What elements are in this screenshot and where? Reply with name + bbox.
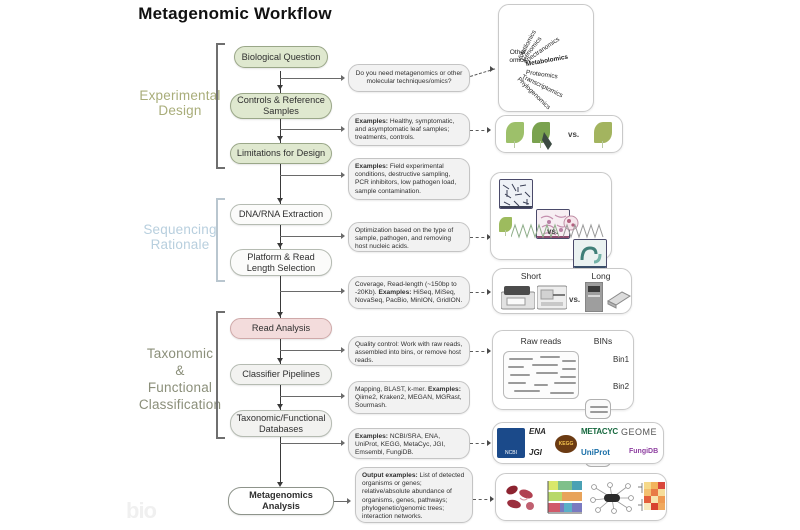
branch-line-extraction xyxy=(280,236,342,237)
logo-jgi: JGI xyxy=(529,448,542,457)
node-limitations-for-design[interactable]: Limitations for Design xyxy=(230,143,332,164)
panel-database-logos: NCBI ENA KEGG METACYC GEOME JGI UniProt … xyxy=(492,422,664,464)
branch-arrow-question xyxy=(341,75,345,81)
micrograph-tile-3 xyxy=(573,239,607,269)
branch-line-controls xyxy=(280,129,342,130)
branch-line-databases xyxy=(280,443,342,444)
branch-arrow-classifier xyxy=(341,393,345,399)
bin1-label: Bin1 xyxy=(613,355,629,364)
callout-controls-examples: Examples: Healthy, symptomatic, and asym… xyxy=(348,113,470,146)
panel-leaf-comparison: vs. xyxy=(495,115,623,153)
node-read-analysis[interactable]: Read Analysis xyxy=(230,318,332,339)
leaf-healthy-1 xyxy=(506,122,524,148)
bin1-box xyxy=(585,399,611,419)
node-platform-label-2: Length Selection xyxy=(247,263,315,274)
logo-ncbi: NCBI xyxy=(497,428,525,458)
bin2-label: Bin2 xyxy=(613,382,629,391)
callout-classifier-examples: Mapping, BLAST, k-mer. Examples: Qiime2,… xyxy=(348,381,470,414)
sequencer-short-icon-2 xyxy=(537,284,567,310)
branch-line-classifier xyxy=(280,396,342,397)
node-read-analysis-label: Read Analysis xyxy=(252,323,310,334)
raw-reads-box xyxy=(503,351,579,399)
node-controls-label-2: Samples xyxy=(263,106,299,117)
watermark-logo: bio xyxy=(126,498,186,526)
callout-output-examples: Output examples: List of detected organi… xyxy=(355,467,473,523)
callout-extraction-optimization: Optimization based on the type of sample… xyxy=(348,222,470,252)
callout-extraction-text: Optimization based on the type of sample… xyxy=(355,227,453,250)
arrow-to-platform xyxy=(277,243,283,248)
bracket-taxonomic-functional xyxy=(216,311,225,439)
node-metagenomics-label-1: Metagenomics xyxy=(249,490,313,501)
logo-kegg: KEGG xyxy=(555,435,577,453)
arrow-to-controls xyxy=(277,85,283,90)
node-metagenomics-analysis[interactable]: Metagenomics Analysis xyxy=(228,487,334,515)
node-classifier-label: Classifier Pipelines xyxy=(242,369,320,380)
node-taxonomic-functional-databases[interactable]: Taxonomic/Functional Databases xyxy=(230,410,332,437)
node-databases-label-1: Taxonomic/Functional xyxy=(237,413,326,424)
logo-ena: ENA xyxy=(529,427,546,436)
callout-limitations-examples: Examples: Field experimental conditions,… xyxy=(348,158,470,200)
callout-classifier-prefix: Examples: xyxy=(428,386,461,393)
abundance-barchart-icon xyxy=(542,479,584,517)
dash-arrow-outputs xyxy=(490,496,494,502)
arrow-to-read-analysis xyxy=(277,312,283,317)
leaf-vs-label: vs. xyxy=(568,130,579,139)
branch-line-question xyxy=(280,78,342,79)
clustered-heatmap-icon xyxy=(636,479,666,517)
node-limitations-label: Limitations for Design xyxy=(237,148,325,159)
arrow-to-classifier xyxy=(277,358,283,363)
callout-classifier-text: Qiime2, Kraken2, MEGAN, MGRast, Sourmash… xyxy=(355,394,462,409)
micrograph-tile-1 xyxy=(499,179,533,209)
panel-output-visuals xyxy=(495,473,667,521)
branch-line-platform xyxy=(280,291,342,292)
branch-arrow-controls xyxy=(341,126,345,132)
callout-read-analysis-qc: Quality control: Work with raw reads, as… xyxy=(348,336,470,366)
callout-controls-prefix: Examples: xyxy=(355,118,388,125)
raw-reads-label: Raw reads xyxy=(503,336,579,346)
dash-arrow-leaves xyxy=(487,127,491,133)
node-biological-question[interactable]: Biological Question xyxy=(234,46,328,68)
branch-arrow-read-analysis xyxy=(341,347,345,353)
callout-output-text: List of detected organisms or genes; rel… xyxy=(362,472,464,520)
sampling-tool-icon xyxy=(542,130,558,152)
dash-arrow-sequencers xyxy=(487,289,491,295)
node-extraction-label: DNA/RNA Extraction xyxy=(239,209,323,220)
panel-other-omics: Other omics Volatilomics Genomics Spectr… xyxy=(498,4,594,112)
callout-platform-examples: Coverage, Read-length (~150bp to -20Kb).… xyxy=(348,276,470,309)
callout-databases-examples: Examples: NCBI/SRA, ENA, UniProt, KEGG, … xyxy=(348,428,470,459)
callout-classifier-pre: Mapping, BLAST, k-mer. xyxy=(355,386,428,393)
callout-question-text: Do you need metagenomics or other molecu… xyxy=(355,70,463,86)
node-biological-question-label: Biological Question xyxy=(242,52,321,63)
branch-arrow-databases xyxy=(341,440,345,446)
logo-uniprot: UniProt xyxy=(581,448,610,457)
logo-geome: GEOME xyxy=(621,427,657,437)
dna-vs-label: vs. xyxy=(547,227,558,236)
panel-sequencer-comparison: Short Long vs. xyxy=(492,268,632,314)
sequencer-short-label: Short xyxy=(505,271,557,281)
callout-limitations-prefix: Examples: xyxy=(355,163,388,170)
callout-platform-prefix: Examples: xyxy=(378,289,411,296)
node-platform-label-1: Platform & Read xyxy=(247,252,314,263)
dash-arrow-databases xyxy=(487,440,491,446)
sequencer-long-label: Long xyxy=(579,271,623,281)
logo-metacyc: METACYC xyxy=(581,427,618,436)
callout-read-analysis-text: Quality control: Work with raw reads, as… xyxy=(355,341,462,364)
page-title: Metagenomic Workflow xyxy=(0,4,470,24)
branch-arrow-platform xyxy=(341,288,345,294)
dash-arrow-reads xyxy=(487,348,491,354)
panel-reads-bins: Raw reads BINs Bin1 Bi xyxy=(492,330,634,410)
logo-fungidb: FungiDB xyxy=(629,448,658,455)
arrow-to-databases xyxy=(277,404,283,409)
branch-line-output xyxy=(334,501,348,502)
node-metagenomics-label-2: Analysis xyxy=(262,501,300,512)
bins-label: BINs xyxy=(583,336,623,346)
callout-biological-question: Do you need metagenomics or other molecu… xyxy=(348,64,470,92)
panel-micrograph-dna: vs. xyxy=(490,172,612,260)
callout-output-prefix: Output examples: xyxy=(362,472,418,479)
leaf-healthy-2 xyxy=(594,122,612,148)
nanopore-device-icon xyxy=(606,289,632,309)
branch-line-read-analysis xyxy=(280,350,342,351)
sequencer-vs-label: vs. xyxy=(569,295,580,304)
network-graph-icon xyxy=(590,482,634,514)
dna-sequence-right xyxy=(563,223,607,239)
arrow-to-extraction xyxy=(277,198,283,203)
microbes-icon xyxy=(502,482,538,514)
sequencer-short-icon-1 xyxy=(501,284,535,310)
node-dna-rna-extraction[interactable]: DNA/RNA Extraction xyxy=(230,204,332,225)
sequencer-long-icon-1 xyxy=(585,282,603,312)
node-controls-label-1: Controls & Reference xyxy=(237,95,325,106)
branch-line-limitations xyxy=(280,175,342,176)
arrow-to-limitations xyxy=(277,136,283,141)
dash-arrow-omics xyxy=(490,66,494,72)
node-controls-reference-samples[interactable]: Controls & Reference Samples xyxy=(230,93,332,119)
bracket-sequencing-rationale xyxy=(216,198,225,282)
bracket-experimental-design xyxy=(216,43,225,169)
node-databases-label-2: Databases xyxy=(259,424,303,435)
callout-databases-prefix: Examples: xyxy=(355,433,388,440)
node-platform-read-length[interactable]: Platform & Read Length Selection xyxy=(230,249,332,276)
workflow-diagram: Metagenomic Workflow Experimental Design… xyxy=(0,0,800,530)
branch-arrow-output xyxy=(347,498,351,504)
branch-arrow-limitations xyxy=(341,172,345,178)
branch-arrow-extraction xyxy=(341,233,345,239)
node-classifier-pipelines[interactable]: Classifier Pipelines xyxy=(230,364,332,385)
